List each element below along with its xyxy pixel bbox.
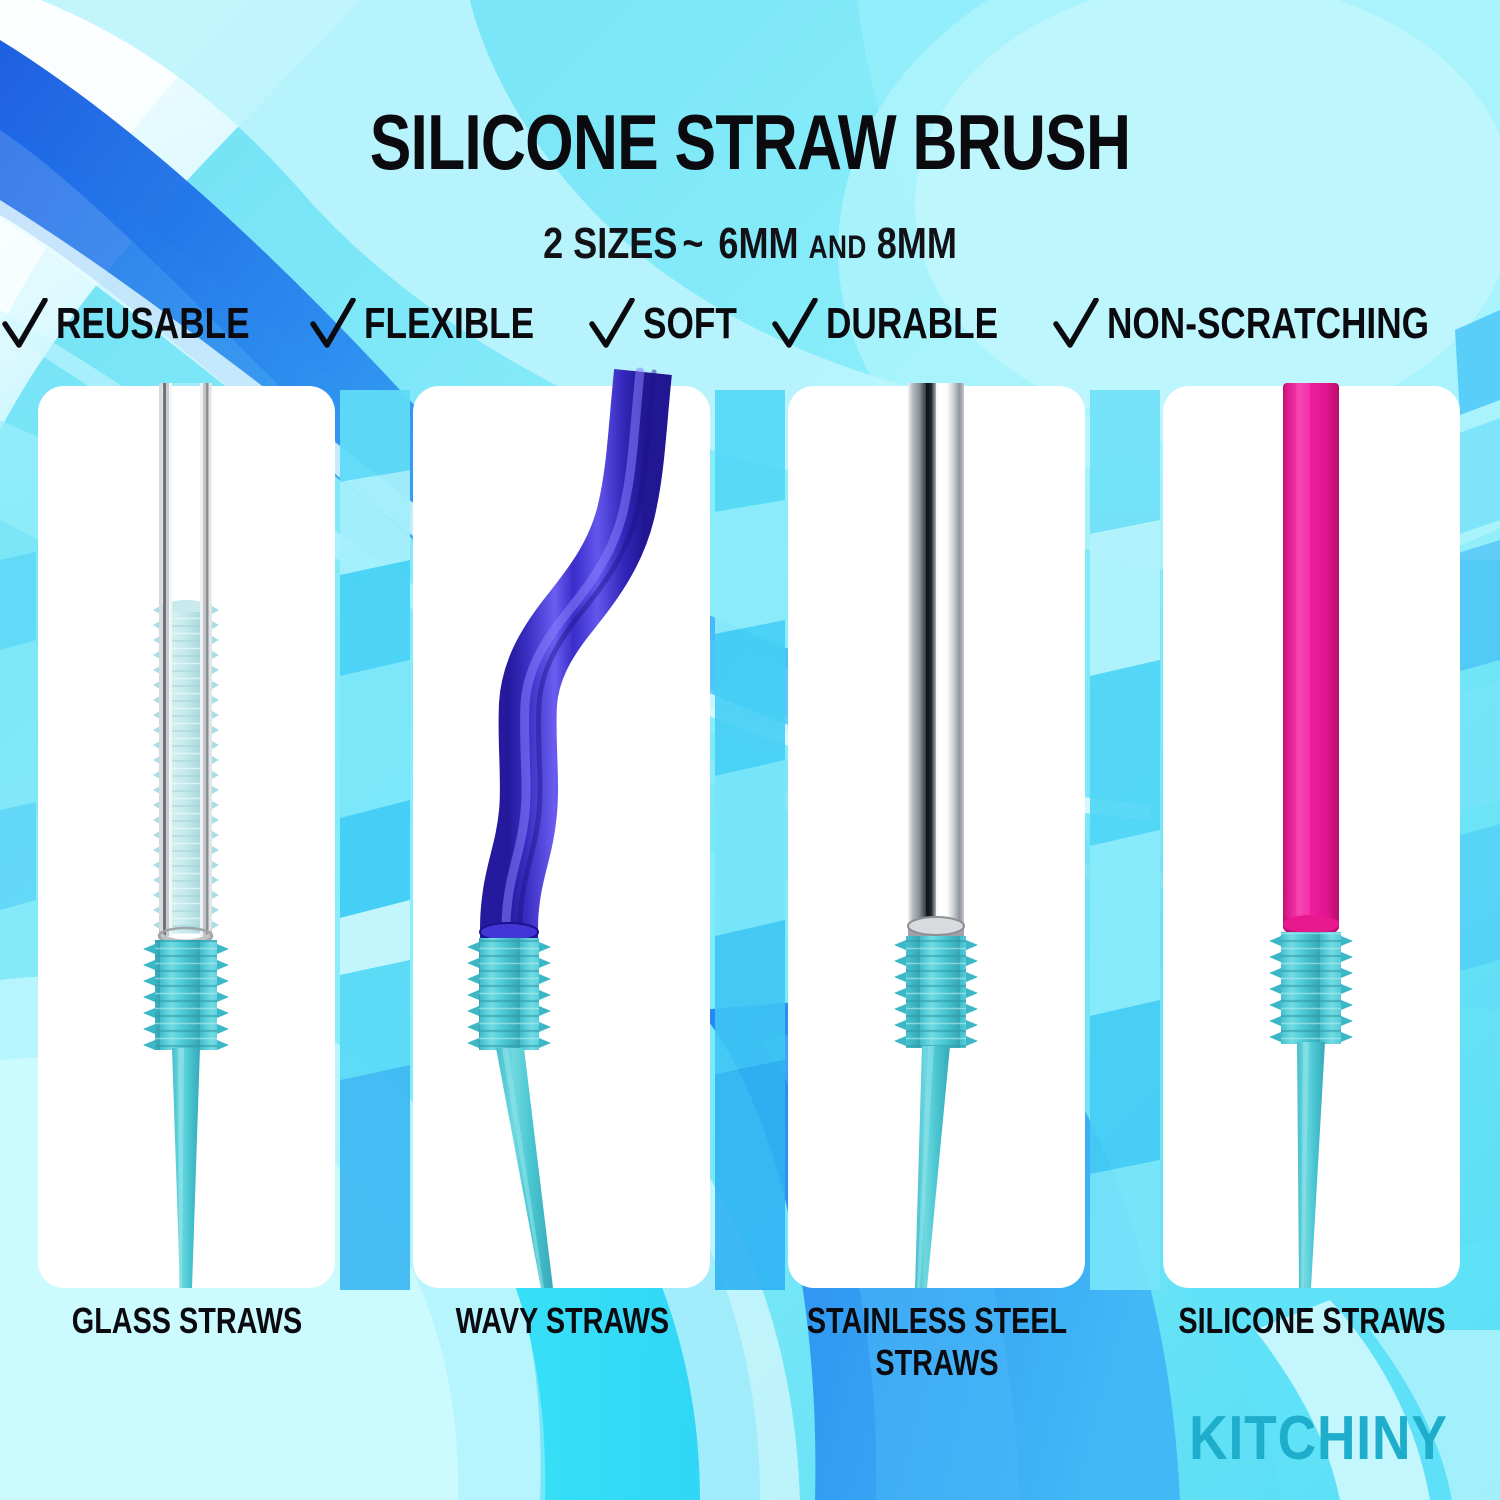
feature-label: REUSABLE (56, 300, 250, 348)
feature-label: DURABLE (826, 300, 998, 348)
feature-label: FLEXIBLE (364, 300, 534, 348)
caption-text: STAINLESS STEEL STRAWS (785, 1300, 1089, 1384)
caption-wavy-straws: WAVY STRAWS (372, 1300, 752, 1342)
subtitle-sizes: 2 SIZES (543, 219, 677, 268)
feature-item-durable: DURABLE (760, 298, 1041, 350)
infographic-canvas: SILICONE STRAW BRUSH 2 SIZES~ 6MM AND 8M… (0, 0, 1500, 1500)
feature-label: NON-SCRATCHING (1107, 300, 1429, 348)
check-icon (589, 298, 635, 350)
subtitle-conjunction: AND (809, 229, 867, 265)
brand-logo: KITCHINY (1189, 1404, 1448, 1474)
feature-item-reusable: REUSABLE (0, 298, 298, 350)
check-icon (310, 298, 356, 350)
feature-list: REUSABLE FLEXIBLE SOFT (0, 298, 1500, 350)
caption-stainless-steel-straws: STAINLESS STEEL STRAWS (747, 1300, 1127, 1384)
check-icon (2, 298, 48, 350)
page-title: SILICONE STRAW BRUSH (150, 98, 1350, 186)
product-card-silicone-straws[interactable] (1163, 386, 1460, 1288)
product-card-glass-straws[interactable] (38, 386, 335, 1288)
caption-text: GLASS STRAWS (72, 1300, 302, 1342)
caption-text: WAVY STRAWS (455, 1300, 668, 1342)
feature-item-flexible: FLEXIBLE (298, 298, 577, 350)
feature-item-soft: SOFT (577, 298, 760, 350)
subtitle: 2 SIZES~ 6MM AND 8MM (135, 218, 1365, 273)
feature-item-non-scratching: NON-SCRATCHING (1041, 298, 1500, 350)
subtitle-separator: ~ (677, 219, 708, 268)
subtitle-size-b: 8MM (877, 219, 957, 268)
product-card-wavy-straws[interactable] (413, 386, 710, 1288)
caption-text: SILICONE STRAWS (1178, 1300, 1445, 1342)
check-icon (1053, 298, 1099, 350)
product-card-stainless-steel-straws[interactable] (788, 386, 1085, 1288)
caption-silicone-straws: SILICONE STRAWS (1122, 1300, 1500, 1342)
subtitle-size-a: 6MM (718, 219, 798, 268)
check-icon (772, 298, 818, 350)
caption-glass-straws: GLASS STRAWS (0, 1300, 377, 1342)
feature-label: SOFT (643, 300, 737, 348)
